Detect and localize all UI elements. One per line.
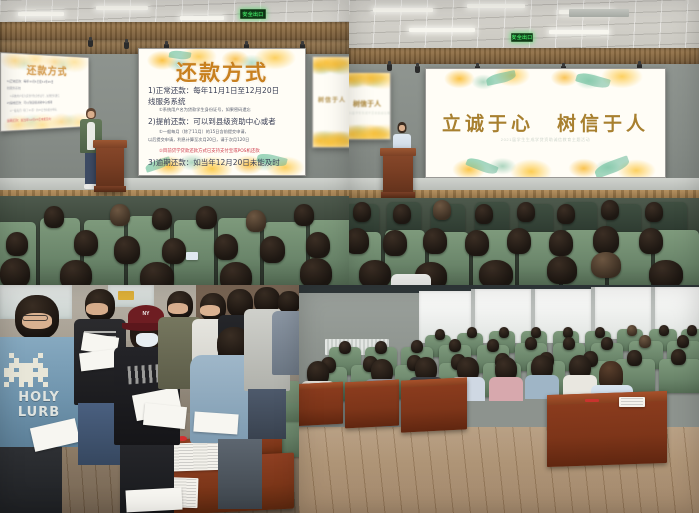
track-light [415, 66, 420, 73]
ceiling-vent [569, 9, 629, 17]
audience-head [383, 230, 407, 256]
audience-head [214, 234, 238, 260]
panel-bottom-left[interactable]: HOLY LURB NY [0, 285, 299, 513]
audience-head [74, 230, 98, 256]
slide-title: 还款方式 [139, 57, 305, 87]
cap-logo: NY [143, 311, 150, 317]
panel-top-left[interactable]: 安全出口 还款方式 1)正常还款：每年11月1日至12月20日 线服务系统 ①系… [0, 0, 349, 285]
slide-line-5: ①一般每月（除了11月）的15日含前提交申请， [159, 129, 249, 135]
audience-head [595, 327, 605, 338]
track-light [124, 42, 129, 49]
adjacent-screen-sliver: 树信于人 [312, 56, 349, 148]
track-light [88, 40, 93, 47]
side-motto-sub: 2021届学生生成学贷资助诚信教育主题活动 [349, 111, 390, 115]
exit-sign: 安全出口 [511, 33, 533, 42]
slide-line-1: 1)正常还款：每年11月1日至12月20日 [148, 85, 279, 96]
audience-head [649, 260, 683, 285]
speaker-face [88, 111, 95, 118]
side-projection-screen: 还款方式 1)正常还款：每年11月1日至12月20日 线服务系统 ①系统用户名为… [0, 52, 89, 132]
audience-head [6, 232, 28, 256]
ceiling-light [18, 12, 64, 16]
loose-paper [125, 488, 182, 513]
student-head [278, 291, 299, 313]
audience-head [627, 350, 642, 366]
wood-ceiling-beam [349, 48, 699, 64]
audience-head [393, 204, 411, 224]
student-face [200, 305, 220, 316]
audience-head [499, 327, 509, 338]
audience-head [475, 204, 493, 224]
side-projection-screen: 树信于人 2021届学生生成学贷资助诚信教育主题活动 [349, 72, 391, 140]
audience-head [507, 228, 531, 254]
audience-head [639, 228, 663, 254]
front-row-shoulders [489, 377, 523, 401]
event-motto: 立诚于心 树信于人 [426, 109, 665, 136]
side-slide-line: 1)正常还款：每年11月1日至12月20日 [7, 79, 54, 84]
student-face [168, 303, 188, 314]
podium-top [93, 140, 126, 148]
exit-sign: 安全出口 [240, 9, 266, 19]
side-slide-line: 2)提前还款：可以到县级资助中心或者 [7, 100, 53, 105]
desk[interactable] [299, 382, 343, 427]
tshirt-text-line1: HOLY [0, 391, 80, 404]
audience-head [547, 256, 577, 284]
leaf-decoration [575, 71, 611, 91]
desk[interactable] [401, 377, 467, 432]
audience-head [659, 325, 669, 336]
audience-shoulders [391, 274, 431, 285]
ceiling-light [180, 16, 224, 20]
audience-head [411, 340, 423, 353]
audience-head [220, 262, 252, 285]
tshirt-text-line2: LURB [0, 406, 80, 419]
side-slide-line: 线服务系统 [7, 86, 21, 90]
slide-line-7: ②目前贷学贷款还款方式已支持支付宝或POS机还款 [159, 148, 260, 154]
audience-head [349, 228, 369, 254]
face-mask [136, 333, 158, 347]
audience-head [306, 232, 330, 258]
audience-head [152, 208, 172, 230]
audience-head [517, 202, 535, 222]
pixel-alien-graphic [4, 353, 48, 387]
side-slide-line: ①一般每月（除了11月）的15日含前提交申请， [10, 108, 59, 113]
student-trousers [218, 439, 262, 509]
audience-head [591, 252, 621, 278]
event-motto-subtitle: 2021届学生生成学贷资助诚信教育主题活动 [426, 137, 665, 143]
stage-wall-band [0, 178, 349, 190]
audience-head [246, 210, 266, 232]
slide-line-8: 3)逾期还款：如当年12月20日未能及时 [148, 157, 280, 168]
student-face [86, 303, 108, 315]
audience-head [449, 339, 461, 352]
main-projection-screen: 还款方式 1)正常还款：每年11月1日至12月20日 线服务系统 ①系统用户名为… [138, 48, 306, 176]
audience-head [563, 337, 575, 350]
ceiling-light [96, 6, 148, 10]
audience-head [196, 206, 217, 229]
side-slide-line: 逾期还款：如当年12月20日未能及时 [7, 117, 51, 123]
slide-line-4: 2)提前还款：可以到县级资助中心或者 [148, 116, 276, 127]
audience-head [549, 230, 573, 256]
audience-head [353, 202, 371, 222]
ceiling-light [467, 4, 525, 8]
audience-head [677, 335, 689, 348]
podium-top [380, 148, 415, 156]
student-blue-tee: HOLY LURB [0, 291, 80, 513]
podium [96, 140, 124, 192]
panel-bottom-right[interactable] [299, 285, 699, 513]
glasses-icon [22, 315, 48, 321]
side-slide-line: ①系统用户名为贷款学生身份证号，如果密码遗忘 [10, 94, 60, 98]
track-light [387, 64, 392, 71]
audience-head [423, 228, 447, 254]
ceiling-light [409, 28, 475, 32]
audience-head [44, 206, 64, 228]
desk[interactable] [345, 380, 399, 429]
slide-line-6: 以后提交申请，利息计算至次月20日，请于次月120日 [148, 137, 249, 143]
leaf-decoration [485, 70, 516, 86]
audience-head [162, 238, 186, 264]
phone-screen [186, 252, 198, 260]
desk-pen [585, 399, 599, 402]
leaf-decoration [593, 155, 631, 178]
desk-edge [345, 380, 399, 389]
podium-base [94, 186, 126, 192]
student-far-right [272, 291, 299, 411]
audience-head [435, 329, 445, 340]
audience-head [557, 204, 575, 224]
led-wall-screen: 立诚于心 树信于人 2021届学生生成学贷资助诚信教育主题活动 [425, 68, 666, 178]
exit-sign-label: 安全出口 [511, 34, 532, 41]
desk-papers [619, 397, 645, 407]
audience-head [639, 335, 651, 348]
adjacent-motto: 树信于人 [313, 95, 349, 104]
audience-head [60, 260, 92, 285]
audience-head [260, 236, 285, 263]
exit-sign-label: 安全出口 [242, 11, 263, 18]
audience-head [140, 262, 174, 285]
wood-ceiling-beam [0, 22, 349, 40]
desk-front-right[interactable] [547, 391, 667, 467]
audience-head [487, 339, 499, 352]
panel-top-right[interactable]: 安全出口 树信于人 2021届学生生成学贷资助诚信教育主题活动 立诚于心 树信于… [349, 0, 699, 285]
audience-head [525, 337, 537, 350]
held-paper [143, 403, 187, 429]
audience-head [359, 260, 391, 285]
audience-head [465, 230, 489, 256]
audience-head [114, 236, 140, 264]
desk-edge [299, 382, 343, 390]
audience-head [645, 202, 663, 222]
audience-head [687, 325, 697, 336]
slide-line-3: ①系统用户名为贷款学生身份证号，如果密码遗忘 [159, 107, 251, 113]
student-shirt [272, 311, 299, 375]
ceiling-light [549, 30, 609, 34]
speaker-face [399, 125, 405, 131]
audience-area [0, 196, 349, 285]
slide-line-2: 线服务系统 [148, 96, 186, 107]
audience-area [349, 198, 699, 285]
held-paper [193, 411, 238, 434]
photo-collage: 安全出口 还款方式 1)正常还款：每年11月1日至12月20日 线服务系统 ①系… [0, 0, 699, 513]
audience-head [339, 341, 351, 354]
audience-head [375, 341, 387, 354]
ceiling-light [373, 8, 433, 12]
leaf-decoration [465, 155, 498, 176]
audience-head [601, 200, 619, 220]
audience-head [467, 327, 477, 338]
side-motto: 树信于人 [349, 99, 390, 109]
audience-head [671, 349, 686, 365]
side-slide-title: 还款方式 [1, 61, 88, 79]
audience-head [433, 200, 451, 220]
audience-head [601, 337, 613, 350]
audience-head [300, 258, 332, 285]
audience-head [593, 226, 619, 254]
podium [383, 148, 413, 198]
audience-head [0, 258, 30, 285]
audience-head [479, 260, 513, 285]
student-trousers [0, 447, 62, 513]
audience-head [110, 204, 130, 226]
audience-head [294, 204, 314, 226]
audience-head [627, 325, 637, 336]
